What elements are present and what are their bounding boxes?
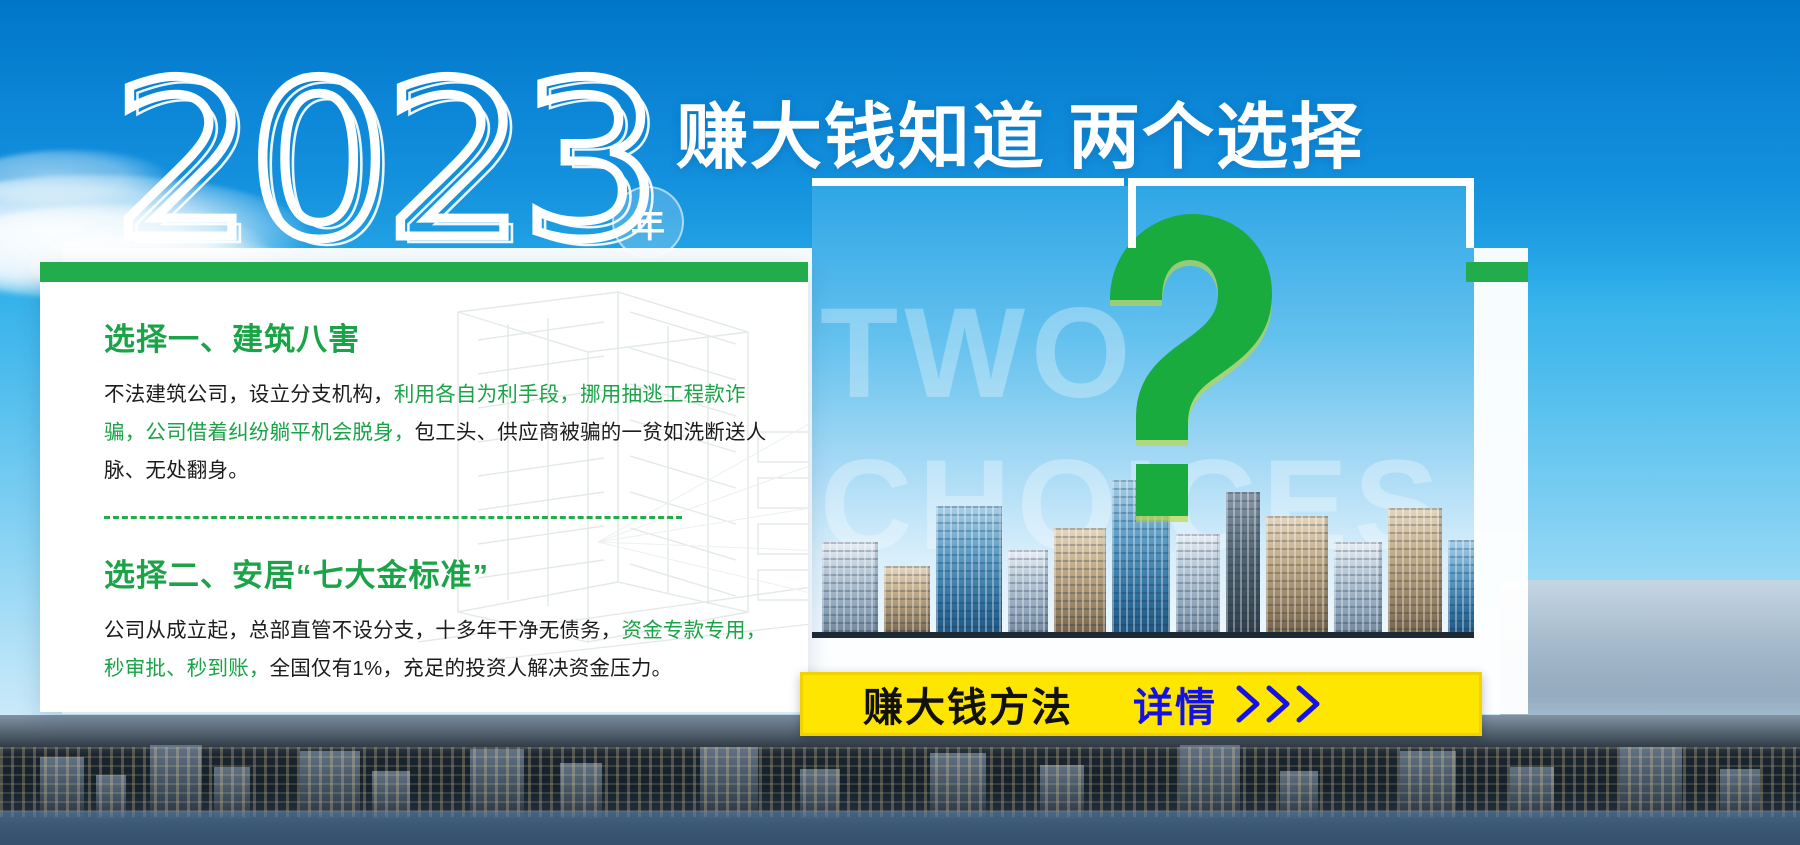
headline-rule — [812, 178, 1474, 186]
card-top-accent-bar — [40, 262, 808, 282]
building-shape — [1176, 534, 1220, 638]
section-1-text-a: 不法建筑公司，设立分支机构， — [104, 383, 394, 406]
headline-part-2: 两个选择 — [1068, 98, 1364, 178]
sheet-green-accent — [1466, 262, 1528, 282]
section-1-title: 选择一、建筑八害 — [104, 314, 794, 359]
section-divider — [104, 516, 682, 519]
city-baseline — [812, 632, 1474, 638]
building-shape — [884, 566, 930, 638]
section-1-body: 不法建筑公司，设立分支机构，利用各自为利手段，挪用抽逃工程款诈骗，公司借着纠纷躺… — [104, 376, 777, 490]
question-mark-icon — [1070, 208, 1280, 528]
card-content: 选择一、建筑八害 不法建筑公司，设立分支机构，利用各自为利手段，挪用抽逃工程款诈… — [104, 314, 794, 688]
building-shape — [1266, 516, 1328, 638]
year-display: 2023 2023 — [112, 62, 752, 262]
section-2-text-a: 公司从成立起，总部直管不设分支，十多年干净无债务， — [104, 619, 622, 642]
building-shape — [1448, 540, 1474, 638]
building-shape — [1054, 528, 1106, 638]
rule-segment-right — [1130, 178, 1474, 186]
rule-segment-left — [812, 178, 1124, 186]
choices-panel: TWO CHOICES — [812, 186, 1474, 638]
water-reflection — [0, 811, 1800, 845]
section-2-title: 选择二、安居“七大金标准” — [104, 550, 794, 595]
choices-card: 选择一、建筑八害 不法建筑公司，设立分支机构，利用各自为利手段，挪用抽逃工程款诈… — [40, 262, 808, 712]
cta-main-label: 赚大钱方法 — [863, 675, 1073, 733]
banner-root: 2023 2023 年 赚大钱知道两个选择 TWO CHOICES — [0, 0, 1800, 845]
headline-part-1: 赚大钱知道 — [676, 98, 1046, 178]
cta-link-label[interactable]: 详情 — [1133, 675, 1217, 733]
page-title: 赚大钱知道两个选择 — [676, 78, 1364, 183]
section-2-body: 公司从成立起，总部直管不设分支，十多年干净无债务，资金专款专用，秒审批、秒到账，… — [104, 612, 777, 688]
building-shape — [1334, 542, 1382, 638]
year-number-ghost: 2023 — [120, 68, 664, 268]
rule-vertical-center — [1128, 178, 1136, 248]
building-shape — [936, 506, 1002, 638]
building-shape — [1008, 550, 1048, 638]
skyline-windows — [0, 747, 1800, 817]
rule-vertical-right — [1466, 178, 1474, 248]
chevrons-right-icon — [1235, 684, 1323, 724]
building-shape — [1388, 508, 1442, 638]
building-shape — [822, 542, 878, 638]
cta-button[interactable]: 赚大钱方法 详情 — [800, 672, 1482, 736]
section-2-text-c: 全国仅有1%，充足的投资人解决资金压力。 — [270, 657, 673, 680]
